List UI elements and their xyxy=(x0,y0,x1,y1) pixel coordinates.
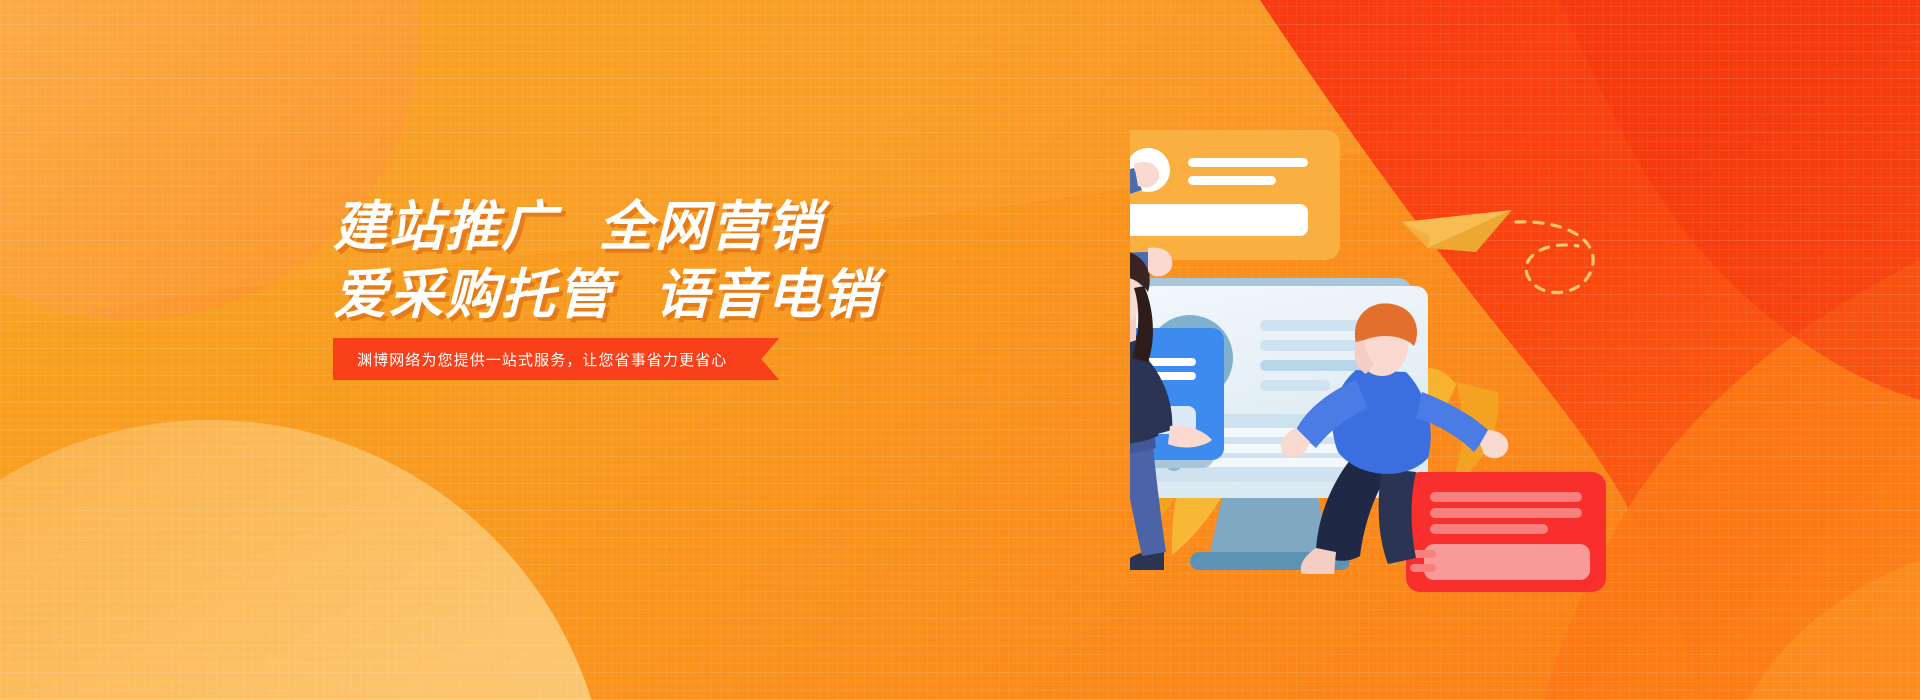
tagline-ribbon-text: 渊博网络为您提供一站式服务，让您省事省力更省心 xyxy=(333,338,779,380)
headline-line-2: 爱采购托管 语音电销 xyxy=(333,264,1093,326)
paper-plane-icon xyxy=(1402,210,1512,252)
tagline-ribbon: 渊博网络为您提供一站式服务，让您省事省力更省心 xyxy=(333,338,779,380)
blob-bottom-left xyxy=(0,420,610,700)
promo-banner: 建站推广 全网营销 爱采购托管 语音电销 渊博网络为您提供一站式服务，让您省事省… xyxy=(0,0,1920,700)
hero-illustration xyxy=(1130,100,1920,600)
yellow-contact-card xyxy=(1130,130,1340,260)
red-content-card xyxy=(1406,472,1606,592)
headline-line-1: 建站推广 全网营销 xyxy=(333,196,1093,258)
illustration-svg xyxy=(1130,100,1920,600)
dashed-trail-right xyxy=(1516,222,1593,293)
headline-block: 建站推广 全网营销 爱采购托管 语音电销 xyxy=(333,196,1093,326)
